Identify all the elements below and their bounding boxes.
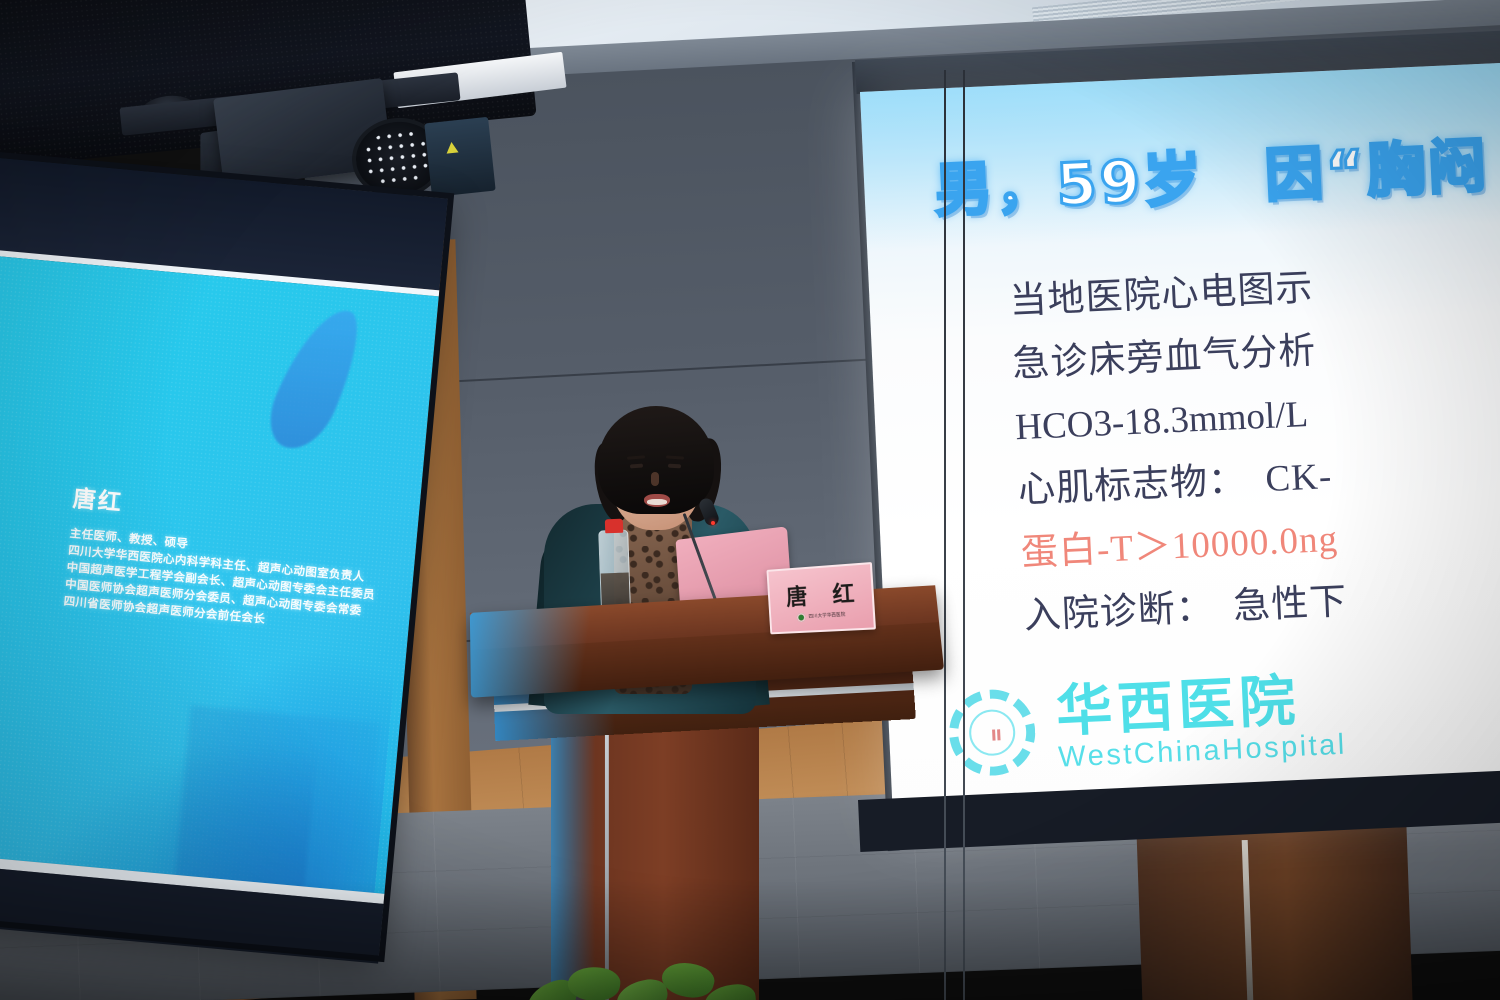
hospital-name-cn: 华西医院 <box>1055 671 1346 740</box>
podium-nameplate: 唐 红 四川大学华西医院 <box>766 562 876 634</box>
bottle-cap-icon <box>605 519 623 534</box>
led-video-wall: 唐红 主任医师、教授、硕导 四川大学华西医院心内科学科主任、超声心动图室负责人 … <box>0 148 448 956</box>
dark-wood-pillar <box>1137 825 1414 1000</box>
slide-body: 当地医院心电图示 急诊床旁血气分析 HCO3-18.3mmol/L 心肌标志物：… <box>1008 241 1500 648</box>
hanging-cable <box>944 70 946 1000</box>
par-light-body <box>424 117 495 197</box>
projection-screen: 男，59岁 因“胸闷 当地医院心电图示 急诊床旁血气分析 HCO3-18.3mm… <box>860 60 1500 831</box>
led-wall-screen: 唐红 主任医师、教授、硕导 四川大学华西医院心内科学科主任、超声心动图室负责人 … <box>0 246 439 894</box>
hanging-cable <box>963 70 965 1000</box>
led-speaker-bio: 唐红 主任医师、教授、硕导 四川大学华西医院心内科学科主任、超声心动图室负责人 … <box>63 479 374 638</box>
foreground-plant <box>520 955 770 1000</box>
conference-room-scene: 唐红 主任医师、教授、硕导 四川大学华西医院心内科学科主任、超声心动图室负责人 … <box>0 0 1500 1000</box>
hospital-seal-icon <box>947 687 1037 777</box>
warning-triangle-icon <box>445 141 458 153</box>
microphone-status-led <box>711 521 715 525</box>
presenter-mouth <box>644 494 670 507</box>
nameplate-organization: 四川大学华西医院 <box>808 612 845 620</box>
clover-logo-icon <box>797 612 806 621</box>
nameplate-name: 唐 红 <box>777 574 865 611</box>
slide-footer-logo: 华西医院 WestChinaHospital <box>947 671 1347 780</box>
